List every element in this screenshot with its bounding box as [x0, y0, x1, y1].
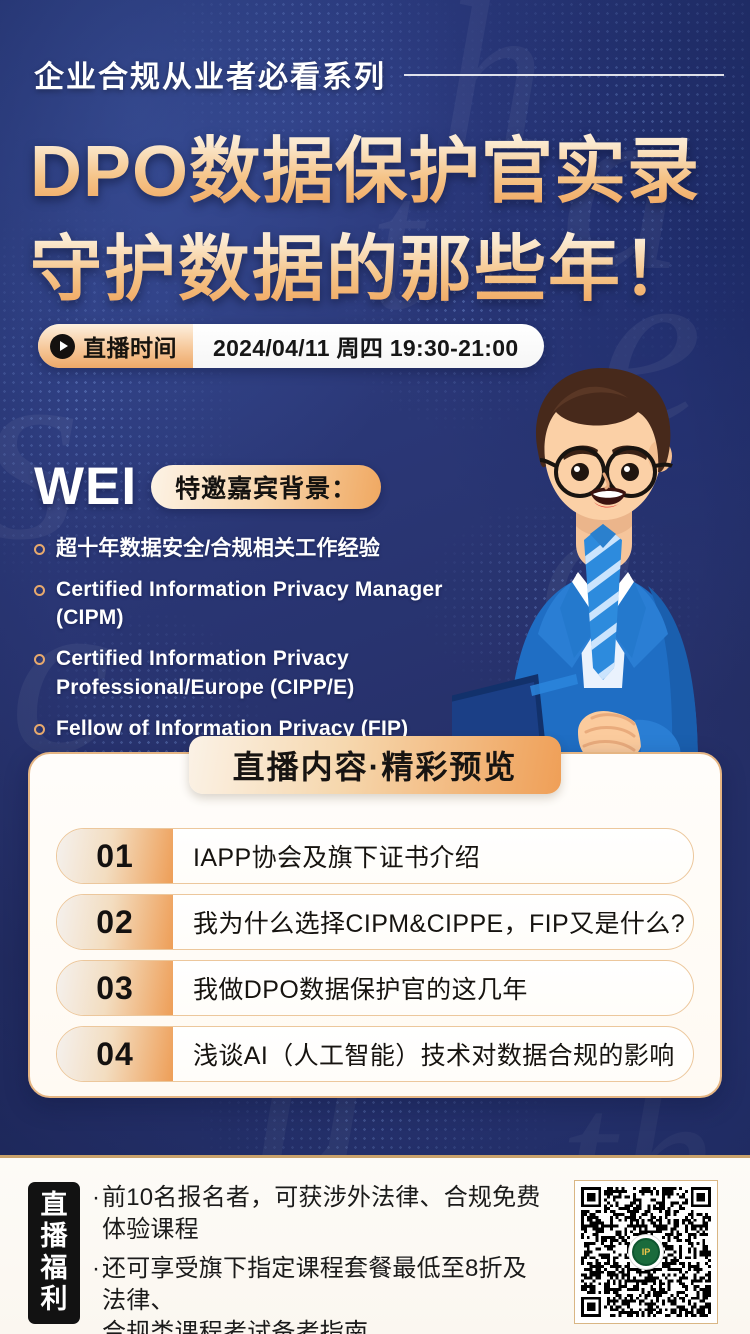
kicker-row: 企业合规从业者必看系列	[34, 52, 724, 96]
speaker-block: WEI 特邀嘉宾背景： 超十年数据安全/合规相关工作经验 Certified I…	[34, 460, 514, 743]
content-rows: 01 IAPP协会及旗下证书介绍 02 我为什么选择CIPM&CIPPE，FIP…	[56, 828, 694, 1082]
vertical-tag-char: 福	[41, 1254, 68, 1282]
credential-text: Certified Information Privacy Manager (C…	[56, 576, 514, 632]
bullet-dot-icon: ·	[92, 1182, 100, 1213]
row-text: 我做DPO数据保护官的这几年	[173, 961, 693, 1015]
ring-bullet-icon	[34, 724, 45, 735]
row-number: 03	[57, 961, 173, 1015]
poster-root: h a t e s a c u th n 企业合规从业者必看系列 DPO数据保护…	[0, 0, 750, 1334]
benefit-text: 前10名报名者，可获涉外法律、合规免费体验课程	[102, 1182, 542, 1245]
ring-bullet-icon	[34, 585, 45, 596]
benefits-list: · 前10名报名者，可获涉外法律、合规免费体验课程 · 还可享受旗下指定课程套餐…	[92, 1182, 542, 1334]
list-item: 超十年数据安全/合规相关工作经验	[34, 535, 514, 563]
ring-bullet-icon	[34, 544, 45, 555]
speaker-header: WEI 特邀嘉宾背景：	[34, 460, 514, 513]
vertical-tag-char: 直	[41, 1191, 68, 1219]
kicker-text: 企业合规从业者必看系列	[34, 52, 386, 96]
live-time-label-group: 直播时间	[38, 324, 193, 368]
list-item: Certified Information Privacy Profession…	[34, 645, 514, 701]
credential-text: 超十年数据安全/合规相关工作经验	[56, 535, 380, 563]
row-text: 我为什么选择CIPM&CIPPE，FIP又是什么?	[173, 895, 693, 949]
qr-code[interactable]: IP	[581, 1187, 711, 1317]
content-card: 直播内容·精彩预览 01 IAPP协会及旗下证书介绍 02 我为什么选择CIPM…	[28, 752, 722, 1098]
row-number: 02	[57, 895, 173, 949]
speaker-credentials-list: 超十年数据安全/合规相关工作经验 Certified Information P…	[34, 535, 514, 743]
vertical-tag-char: 播	[41, 1222, 68, 1250]
content-row[interactable]: 02 我为什么选择CIPM&CIPPE，FIP又是什么?	[56, 894, 694, 950]
credential-text: Certified Information Privacy Profession…	[56, 645, 355, 701]
content-card-title: 直播内容·精彩预览	[189, 736, 561, 794]
ring-bullet-icon	[34, 654, 45, 665]
live-time-value: 2024/04/11 周四 19:30-21:00	[193, 324, 544, 368]
live-time-label: 直播时间	[83, 329, 177, 363]
list-item: Certified Information Privacy Manager (C…	[34, 576, 514, 632]
content-row[interactable]: 04 浅谈AI（人工智能）技术对数据合规的影响	[56, 1026, 694, 1082]
benefit-text: 还可享受旗下指定课程套餐最低至8折及法律、 合规类课程考试备考指南	[102, 1253, 542, 1334]
play-icon	[50, 334, 75, 359]
benefits-vertical-tag: 直 播 福 利	[28, 1182, 80, 1324]
row-number: 01	[57, 829, 173, 883]
title-line-2: 守护数据的那些年！	[30, 210, 696, 315]
qr-code-panel[interactable]: IP	[574, 1180, 718, 1324]
list-item: · 前10名报名者，可获涉外法律、合规免费体验课程	[92, 1182, 542, 1245]
row-text: IAPP协会及旗下证书介绍	[173, 829, 693, 883]
content-row[interactable]: 03 我做DPO数据保护官的这几年	[56, 960, 694, 1016]
speaker-badge: 特邀嘉宾背景：	[151, 465, 381, 509]
title-line-1: DPO数据保护官实录	[30, 112, 700, 217]
live-time-pill: 直播时间 2024/04/11 周四 19:30-21:00	[38, 324, 544, 368]
row-number: 04	[57, 1027, 173, 1081]
list-item: · 还可享受旗下指定课程套餐最低至8折及法律、 合规类课程考试备考指南	[92, 1253, 542, 1334]
speaker-name: WEI	[34, 460, 137, 513]
qr-logo-badge: IP	[632, 1238, 660, 1266]
kicker-rule	[404, 74, 724, 76]
row-text: 浅谈AI（人工智能）技术对数据合规的影响	[173, 1027, 693, 1081]
bullet-dot-icon: ·	[92, 1253, 100, 1284]
vertical-tag-char: 利	[41, 1285, 68, 1313]
content-row[interactable]: 01 IAPP协会及旗下证书介绍	[56, 828, 694, 884]
qr-center-logo: IP	[629, 1235, 663, 1269]
